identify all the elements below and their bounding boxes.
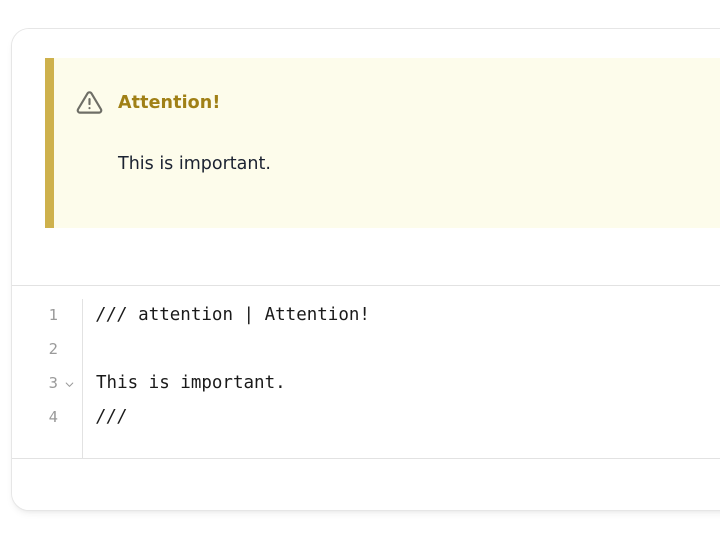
warning-triangle-icon <box>76 89 103 116</box>
admonition-title-text: Attention! <box>118 93 220 113</box>
admonition-body-text: This is important. <box>118 154 271 174</box>
line-number: 3 <box>49 376 58 392</box>
card-footer <box>12 459 720 510</box>
line-number: 4 <box>49 410 58 426</box>
code-line[interactable] <box>96 333 720 367</box>
code-line[interactable]: This is important. <box>96 367 720 401</box>
gutter-row[interactable]: 2 <box>12 333 82 367</box>
code-line[interactable]: /// attention | Attention! <box>96 299 720 333</box>
code-lines[interactable]: /// attention | Attention! This is impor… <box>83 299 720 458</box>
code-scroll-area[interactable]: 1 2 3 <box>12 286 720 458</box>
admonition-title-row: Attention! <box>76 89 220 116</box>
line-number-gutter[interactable]: 1 2 3 <box>12 299 83 458</box>
chevron-down-icon[interactable] <box>64 379 75 390</box>
code-token-fence: /// <box>96 409 128 427</box>
code-token-text: attention | Attention! <box>138 307 370 325</box>
line-number: 1 <box>49 308 58 324</box>
screenshot-stage: Attention! This is important. 1 2 <box>0 0 720 544</box>
code-token-text: This is important. <box>96 375 286 393</box>
example-card: Attention! This is important. 1 2 <box>11 28 720 511</box>
fold-slot <box>64 413 75 424</box>
line-number: 2 <box>49 342 58 358</box>
fold-slot <box>64 345 75 356</box>
admonition-attention: Attention! This is important. <box>45 58 720 228</box>
code-pane[interactable]: 1 2 3 <box>12 286 720 459</box>
gutter-row[interactable]: 1 <box>12 299 82 333</box>
gutter-row[interactable]: 4 <box>12 401 82 435</box>
gutter-row[interactable]: 3 <box>12 367 82 401</box>
preview-pane: Attention! This is important. <box>12 29 720 286</box>
code-line[interactable]: /// <box>96 401 720 435</box>
code-token-fence: /// <box>96 307 138 325</box>
fold-slot <box>64 311 75 322</box>
